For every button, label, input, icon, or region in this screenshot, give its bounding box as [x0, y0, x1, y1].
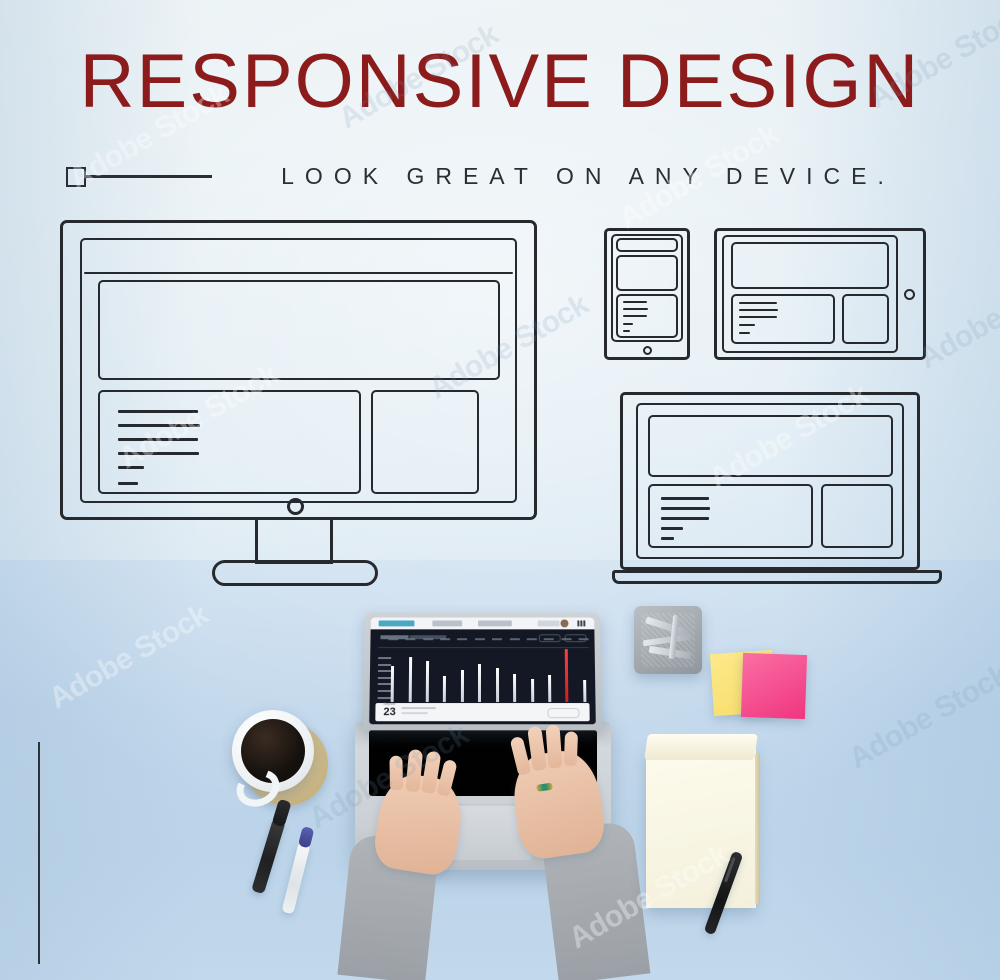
laptop-hero-block	[648, 415, 893, 477]
text-line	[118, 452, 199, 455]
pen-holder-interior	[641, 613, 695, 667]
sticky-note-pink	[741, 653, 807, 719]
page-subtitle: LOOK GREAT ON ANY DEVICE.	[212, 163, 946, 190]
ring	[536, 783, 553, 792]
y-tick-label	[378, 670, 391, 672]
holder-pen	[643, 634, 691, 647]
x-tick-Oct	[544, 638, 554, 640]
report-footer: Report 23	[375, 703, 589, 721]
finger	[389, 756, 403, 790]
bar-Jul	[496, 668, 499, 702]
nav-tab-research[interactable]	[432, 620, 462, 626]
text-line	[739, 332, 750, 334]
monitor-content-block	[98, 390, 361, 494]
bar-Jan	[391, 666, 394, 702]
page-title: RESPONSIVE DESIGN	[0, 44, 1000, 120]
bar-Aug	[513, 674, 516, 702]
wireframe-desktop-monitor	[60, 220, 537, 608]
text-line	[661, 497, 709, 500]
text-line	[623, 323, 633, 325]
bar-Sep	[531, 679, 534, 702]
avatar[interactable]	[560, 619, 568, 627]
x-tick-Feb	[405, 638, 415, 640]
text-line	[661, 507, 710, 510]
x-tick-Sep	[527, 638, 537, 640]
monitor-hero-block	[98, 280, 500, 380]
monitor-camera-dot-icon	[287, 498, 304, 515]
text-line	[623, 330, 630, 332]
x-tick-Jan	[388, 638, 398, 640]
bar-chart	[378, 647, 590, 702]
subtitle-row: LOOK GREAT ON ANY DEVICE.	[66, 163, 946, 190]
rule-line	[86, 175, 212, 178]
chart-top-axis	[378, 647, 588, 648]
text-line	[118, 438, 198, 441]
bar-Jun	[478, 664, 481, 702]
y-tick-label	[378, 664, 391, 666]
x-tick-Dec	[579, 638, 589, 640]
stock-photo-canvas: RESPONSIVE DESIGN LOOK GREAT ON ANY DEVI…	[0, 0, 1000, 980]
tablet-side-block	[842, 294, 889, 344]
bar-Oct	[548, 675, 551, 702]
bar-May	[461, 670, 464, 702]
text-line	[623, 308, 648, 310]
finger	[405, 749, 423, 792]
y-tick-label	[378, 677, 391, 679]
pen-holder	[634, 606, 702, 674]
x-tick-May	[457, 638, 467, 640]
footer-text-line	[402, 707, 436, 709]
text-line	[118, 466, 144, 469]
credit-rule	[38, 742, 40, 964]
text-line	[661, 537, 674, 540]
text-line	[118, 410, 198, 413]
bar-Apr	[443, 676, 446, 702]
text-line	[118, 424, 200, 427]
text-line	[739, 316, 777, 318]
bar-Dec	[583, 680, 586, 702]
bar-Feb	[408, 657, 411, 702]
y-tick-label	[378, 657, 391, 659]
x-tick-Aug	[510, 638, 520, 640]
phone-hero-block	[616, 255, 678, 291]
wireframe-laptop	[612, 392, 942, 592]
footer-text-line	[402, 712, 428, 714]
text-line	[623, 315, 647, 317]
x-tick-Jun	[475, 638, 485, 640]
bar-Nov	[565, 649, 569, 702]
monitor-titlebar-rule	[84, 272, 513, 274]
x-tick-Apr	[440, 638, 450, 640]
finger	[545, 725, 562, 769]
wireframe-smartphone	[604, 228, 690, 360]
wireframe-tablet	[714, 228, 926, 360]
laptop-lid: Report 23	[363, 613, 602, 731]
text-line	[739, 302, 777, 304]
bar-Mar	[426, 661, 429, 702]
laptop-display: Report 23	[369, 618, 596, 725]
finger	[564, 731, 578, 765]
notepad	[646, 748, 756, 908]
square-bullet-icon	[66, 167, 86, 187]
y-tick-label	[378, 683, 391, 685]
x-tick-Nov	[562, 638, 572, 640]
y-tick-label	[378, 690, 391, 692]
notepad-curled-page	[644, 734, 758, 760]
text-line	[118, 482, 138, 485]
x-tick-Mar	[423, 638, 433, 640]
text-line	[661, 517, 709, 520]
nav-account-label[interactable]	[538, 620, 560, 626]
tablet-home-button-icon	[904, 289, 915, 300]
x-tick-Jul	[492, 638, 502, 640]
phone-topbar-block	[616, 238, 678, 252]
nav-tab-dashboard[interactable]	[379, 620, 415, 626]
monitor-stand-neck	[255, 520, 333, 564]
phone-home-button-icon	[643, 346, 652, 355]
text-line	[623, 301, 647, 303]
text-line	[739, 324, 755, 326]
laptop-side-block	[821, 484, 893, 548]
laptop-base-bar	[612, 570, 942, 584]
notepad-page-edge	[755, 754, 760, 904]
nav-tab-campaigns[interactable]	[478, 620, 512, 626]
text-line	[661, 527, 683, 530]
y-tick-label	[378, 697, 391, 699]
footer-action-button[interactable]	[547, 708, 579, 718]
footer-number: 23	[383, 706, 395, 718]
monitor-side-block	[371, 390, 479, 494]
text-line	[739, 309, 778, 311]
holder-pen	[645, 616, 689, 636]
tablet-hero-block	[731, 242, 889, 289]
monitor-stand-base	[212, 560, 378, 586]
menu-icon[interactable]	[577, 620, 586, 626]
